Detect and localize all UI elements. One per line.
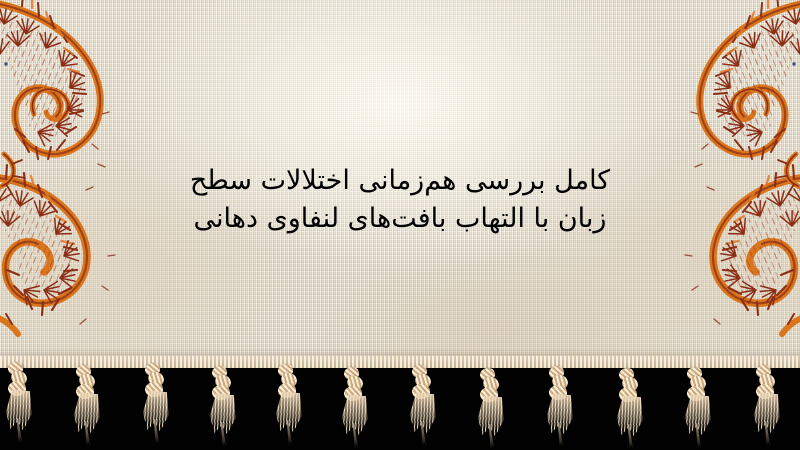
fringe-tassel [70, 363, 104, 450]
title-line-2: زبان با التهاب بافت‌های لنفاوی دهانی [0, 200, 800, 238]
fringe-tassel [139, 361, 173, 449]
tassel-fringe-row [0, 360, 800, 450]
fringe-tassel [543, 364, 577, 450]
fringe-tassel [681, 365, 715, 450]
fringe-tassel [272, 362, 306, 450]
page-title: کامل بررسی هم‌زمانی اختلالات سطح زبان با… [0, 162, 800, 238]
title-card: کامل بررسی هم‌زمانی اختلالات سطح زبان با… [0, 0, 800, 450]
fringe-tassel [474, 366, 508, 450]
title-line-1: کامل بررسی هم‌زمانی اختلالات سطح [0, 162, 800, 200]
fringe-tassel [206, 364, 240, 450]
fringe-tassel [2, 360, 36, 448]
fringe-tassel [406, 363, 440, 450]
fringe-tassel [613, 366, 647, 450]
fringe-tassel [750, 363, 784, 450]
fringe-tassel [338, 365, 372, 450]
